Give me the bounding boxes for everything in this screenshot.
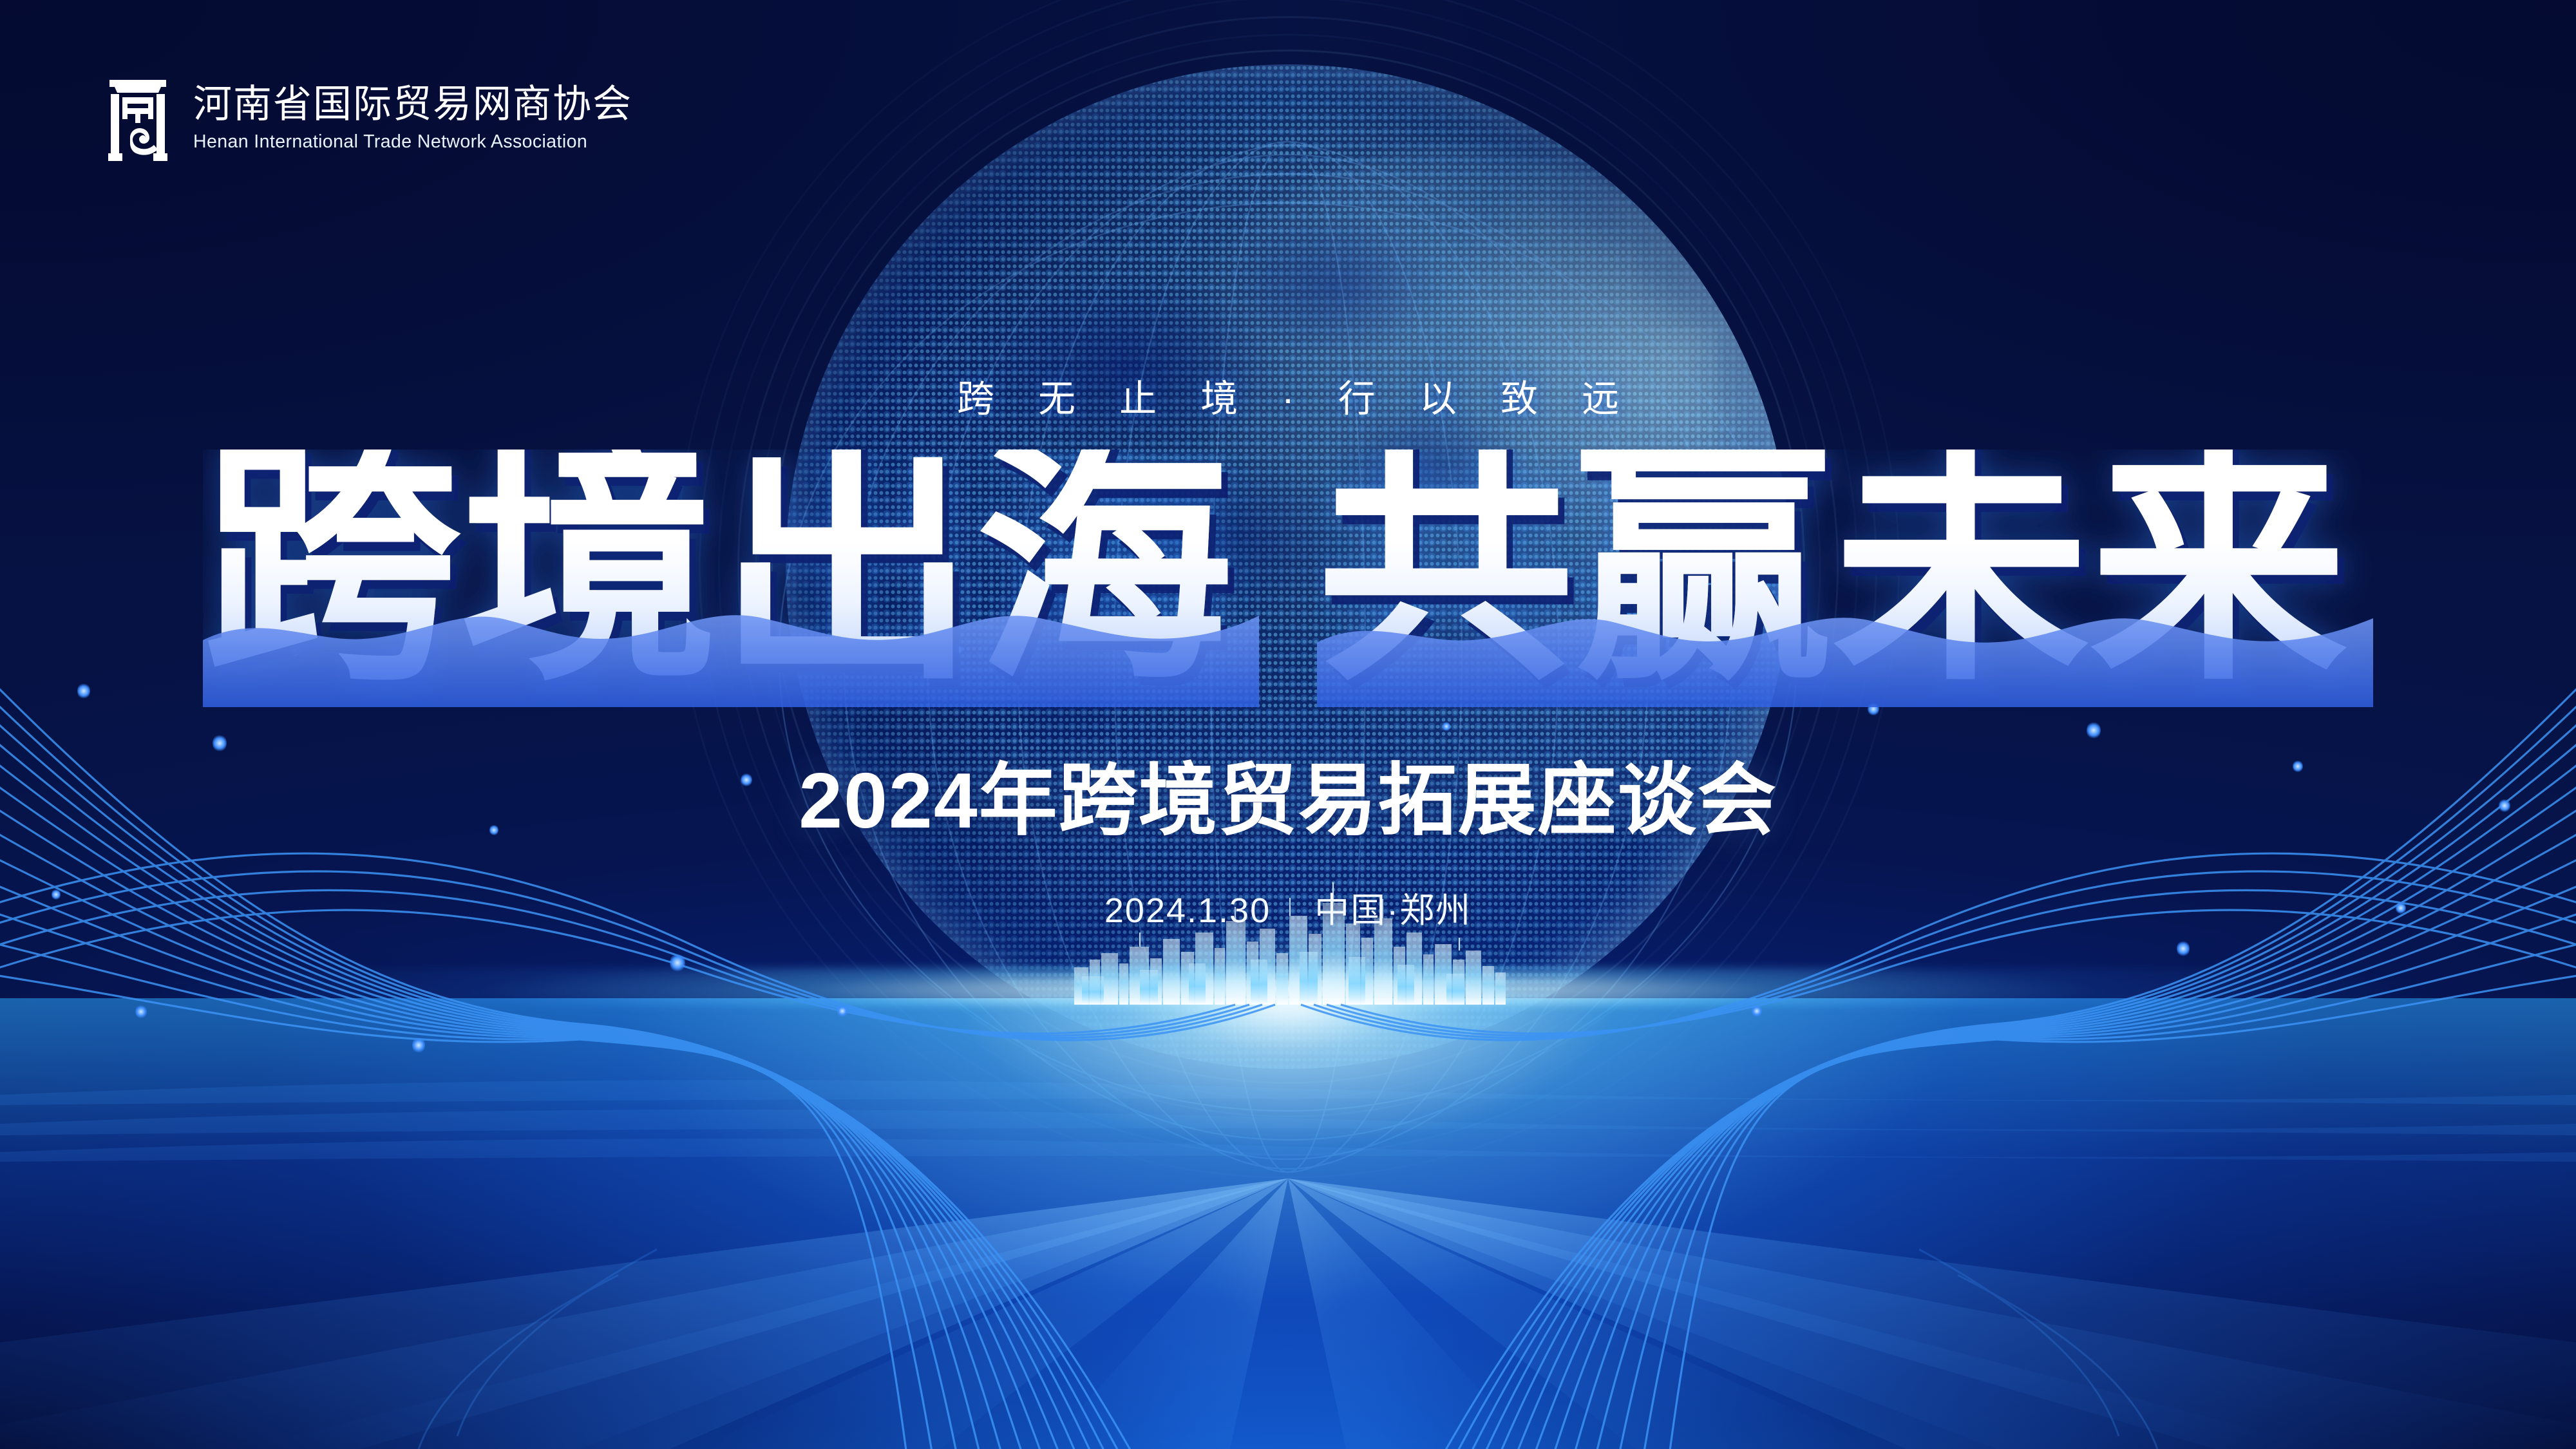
subtitle: 2024年跨境贸易拓展座谈会 — [0, 737, 2576, 851]
brand-name-en: Henan International Trade Network Associ… — [193, 131, 632, 153]
banner-poster: 河南省国际贸易网商协会 Henan International Trade Ne… — [0, 0, 2576, 1449]
event-location: 中国·郑州 — [1314, 891, 1472, 930]
horizon-light-floor — [0, 998, 2576, 1449]
brand-logo[interactable]: 河南省国际贸易网商协会 Henan International Trade Ne… — [102, 76, 632, 161]
brand-name-cn: 河南省国际贸易网商协会 — [193, 84, 632, 124]
henan-trade-seal-logo-icon — [102, 76, 174, 161]
event-date: 2024.1.30 — [1104, 891, 1271, 930]
main-title-part2: 共赢未来 — [1317, 450, 2373, 707]
date-location-bar: 2024.1.30 中国·郑州 — [0, 882, 2576, 933]
main-title-part1: 跨境出海 跨境出海 — [203, 450, 1259, 707]
horizon-glow — [0, 967, 2576, 1006]
tagline: 跨 无 止 境 · 行 以 致 远 — [0, 368, 2576, 422]
main-title: 跨境出海 跨境出海 共赢未来 — [0, 450, 2576, 707]
